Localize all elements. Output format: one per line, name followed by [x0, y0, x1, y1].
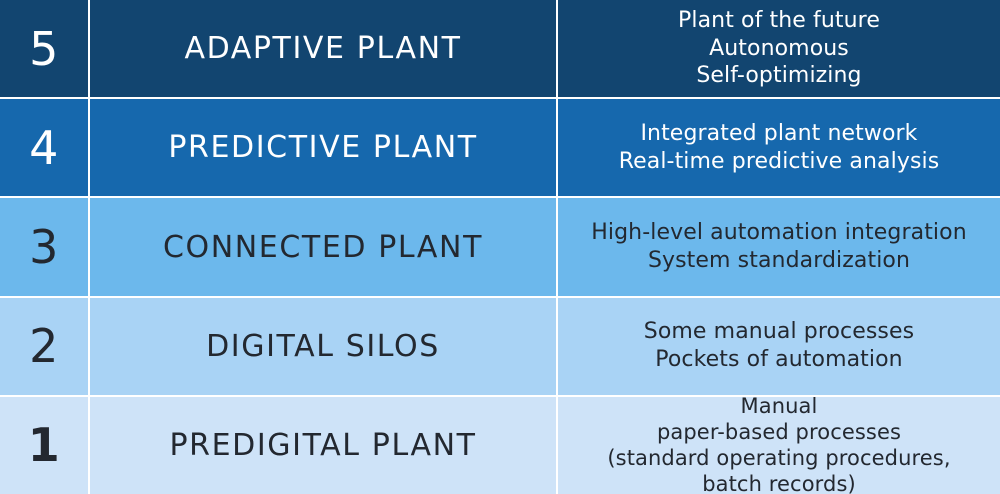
description-text: Integrated plant networkReal-time predic…	[619, 120, 940, 175]
stage-name-cell-5: ADAPTIVE PLANT	[90, 0, 558, 97]
level-cell-3: 3	[0, 198, 90, 295]
level-number: 3	[29, 224, 59, 270]
level-cell-4: 4	[0, 99, 90, 196]
description-text: Plant of the futureAutonomousSelf-optimi…	[678, 7, 880, 90]
description-cell-5: Plant of the futureAutonomousSelf-optimi…	[558, 0, 1000, 97]
level-number: 2	[29, 323, 59, 369]
description-cell-1: Manualpaper-based processes(standard ope…	[558, 397, 1000, 494]
stage-name-cell-4: PREDICTIVE PLANT	[90, 99, 558, 196]
description-cell-3: High-level automation integrationSystem …	[558, 198, 1000, 295]
level-cell-5: 5	[0, 0, 90, 97]
level-number: 4	[29, 125, 59, 171]
stage-name-label: DIGITAL SILOS	[206, 330, 440, 363]
table-row: 2 DIGITAL SILOS Some manual processesPoc…	[0, 298, 1000, 397]
stage-name-cell-1: PREDIGITAL PLANT	[90, 397, 558, 494]
stage-name-label: PREDIGITAL PLANT	[169, 429, 476, 462]
level-cell-1: 1	[0, 397, 90, 494]
stage-name-cell-2: DIGITAL SILOS	[90, 298, 558, 395]
table-row: 1 PREDIGITAL PLANT Manualpaper-based pro…	[0, 397, 1000, 494]
stage-name-label: PREDICTIVE PLANT	[168, 131, 477, 164]
table-row: 3 CONNECTED PLANT High-level automation …	[0, 198, 1000, 297]
stage-name-label: CONNECTED PLANT	[163, 231, 483, 264]
stage-name-label: ADAPTIVE PLANT	[184, 32, 461, 65]
description-text: Some manual processesPockets of automati…	[644, 318, 914, 373]
level-number: 1	[28, 422, 61, 468]
description-cell-2: Some manual processesPockets of automati…	[558, 298, 1000, 395]
level-number: 5	[29, 26, 59, 72]
stage-name-cell-3: CONNECTED PLANT	[90, 198, 558, 295]
level-cell-2: 2	[0, 298, 90, 395]
maturity-level-table: 5 ADAPTIVE PLANT Plant of the futureAuto…	[0, 0, 1000, 494]
table-row: 4 PREDICTIVE PLANT Integrated plant netw…	[0, 99, 1000, 198]
description-text: High-level automation integrationSystem …	[591, 219, 967, 274]
table-row: 5 ADAPTIVE PLANT Plant of the futureAuto…	[0, 0, 1000, 99]
description-cell-4: Integrated plant networkReal-time predic…	[558, 99, 1000, 196]
description-text: Manualpaper-based processes(standard ope…	[607, 397, 950, 494]
